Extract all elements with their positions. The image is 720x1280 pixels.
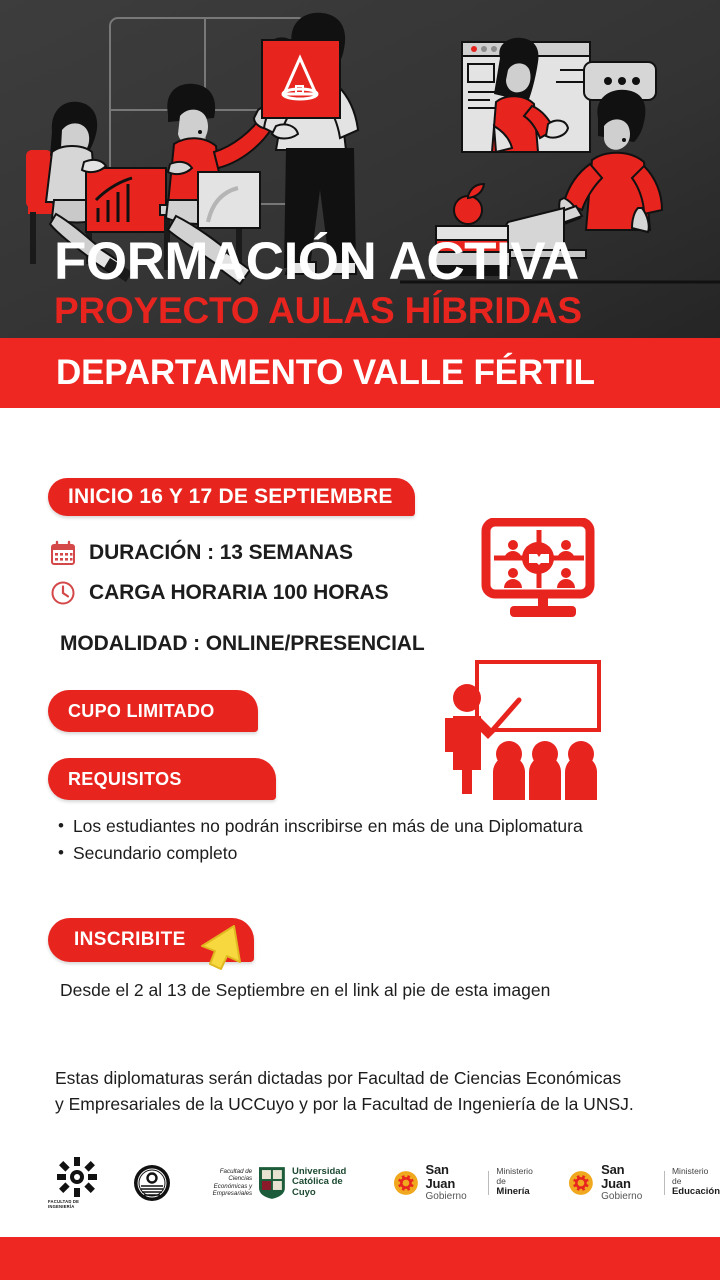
disclaimer-line-1: Estas diplomaturas serán dictadas por Fa… xyxy=(55,1066,634,1092)
logo-bar: FACULTAD DE INGENIERÍA Facultad de Cienc… xyxy=(0,1145,720,1220)
ministry-label: Educación xyxy=(672,1187,720,1198)
enrollment-period: Desde el 2 al 13 de Septiembre en el lin… xyxy=(60,980,550,1001)
page-title: FORMACIÓN ACTIVA xyxy=(54,235,582,289)
disclaimer: Estas diplomaturas serán dictadas por Fa… xyxy=(55,1066,634,1118)
fcee-text: Facultad de Ciencias Económicas y Empres… xyxy=(195,1168,252,1197)
gov-name-secondary: Gobierno xyxy=(601,1191,657,1202)
uccuyo-shield-icon xyxy=(258,1166,286,1200)
ministry-prefix: Ministerio de xyxy=(672,1167,720,1187)
workload-row: CARGA HORARIA 100 HORAS xyxy=(50,580,389,606)
san-juan-sun-flower-icon xyxy=(393,1170,419,1196)
teacher-classroom-icon xyxy=(435,656,613,804)
divider xyxy=(488,1171,489,1195)
list-item: • Los estudiantes no podrán inscribirse … xyxy=(58,813,583,840)
cursor-arrow-icon xyxy=(190,920,254,982)
title-block: FORMACIÓN ACTIVA PROYECTO AULAS HÍBRIDAS xyxy=(54,235,582,332)
disclaimer-line-2: y Empresariales de la UCCuyo y por la Fa… xyxy=(55,1092,634,1118)
video-conference-monitor-icon xyxy=(480,518,605,623)
logo-gobierno-educacion: San Juan Gobierno Ministerio de Educació… xyxy=(568,1163,720,1203)
logo-unsj xyxy=(133,1164,171,1202)
duration-label: DURACIÓN : 13 SEMANAS xyxy=(89,541,353,565)
department-banner: DEPARTAMENTO VALLE FÉRTIL xyxy=(0,338,720,408)
engineering-caption: FACULTAD DE INGENIERÍA xyxy=(48,1199,107,1209)
hero-section: FORMACIÓN ACTIVA PROYECTO AULAS HÍBRIDAS xyxy=(0,0,720,338)
divider xyxy=(664,1171,665,1195)
limited-seats-badge: CUPO LIMITADO xyxy=(48,690,258,732)
calendar-icon xyxy=(50,540,76,566)
gov-name-primary: San Juan xyxy=(601,1163,657,1192)
gov-name-primary: San Juan xyxy=(426,1163,482,1192)
list-item-text: Secundario completo xyxy=(73,840,237,867)
gov-name: San Juan Gobierno xyxy=(426,1163,482,1203)
workload-label: CARGA HORARIA 100 HORAS xyxy=(89,581,389,605)
san-juan-sun-flower-icon xyxy=(568,1170,594,1196)
list-item: • Secundario completo xyxy=(58,840,583,867)
duration-row: DURACIÓN : 13 SEMANAS xyxy=(50,540,353,566)
requirements-list: • Los estudiantes no podrán inscribirse … xyxy=(58,813,583,867)
ministry-name: Ministerio de Educación xyxy=(672,1167,720,1197)
clock-icon xyxy=(50,580,76,606)
logo-uccuyo-fcee: Facultad de Ciencias Económicas y Empres… xyxy=(195,1166,369,1200)
uccuyo-text: Universidad Católica de Cuyo xyxy=(292,1167,369,1199)
gov-name: San Juan Gobierno xyxy=(601,1163,657,1203)
ministry-label: Minería xyxy=(496,1187,544,1198)
fcee-line-3: Empresariales xyxy=(195,1190,252,1197)
requirements-badge: REQUISITOS xyxy=(48,758,276,800)
ministry-prefix: Ministerio de xyxy=(496,1167,544,1187)
fcee-line-2: Económicas y xyxy=(195,1183,252,1190)
poster: FORMACIÓN ACTIVA PROYECTO AULAS HÍBRIDAS… xyxy=(0,0,720,1280)
uccuyo-line-2: Católica de Cuyo xyxy=(292,1177,369,1198)
department-name: DEPARTAMENTO VALLE FÉRTIL xyxy=(56,353,595,393)
logo-gobierno-mineria: San Juan Gobierno Ministerio de Minería xyxy=(393,1163,545,1203)
bullet-glyph: • xyxy=(58,840,64,867)
start-date-badge: INICIO 16 Y 17 DE SEPTIEMBRE xyxy=(48,478,415,516)
modality-label: MODALIDAD : ONLINE/PRESENCIAL xyxy=(60,632,425,656)
ministry-name: Ministerio de Minería xyxy=(496,1167,544,1197)
bottom-red-strip xyxy=(0,1237,720,1280)
unsj-circular-seal-icon xyxy=(133,1164,171,1202)
list-item-text: Los estudiantes no podrán inscribirse en… xyxy=(73,813,583,840)
engineering-sun-emblem-icon xyxy=(57,1157,97,1197)
bullet-glyph: • xyxy=(58,813,64,840)
fcee-line-1: Facultad de Ciencias xyxy=(195,1168,252,1183)
logo-faculty-engineering: FACULTAD DE INGENIERÍA xyxy=(48,1157,107,1209)
gov-name-secondary: Gobierno xyxy=(426,1191,482,1202)
page-subtitle: PROYECTO AULAS HÍBRIDAS xyxy=(54,291,582,332)
